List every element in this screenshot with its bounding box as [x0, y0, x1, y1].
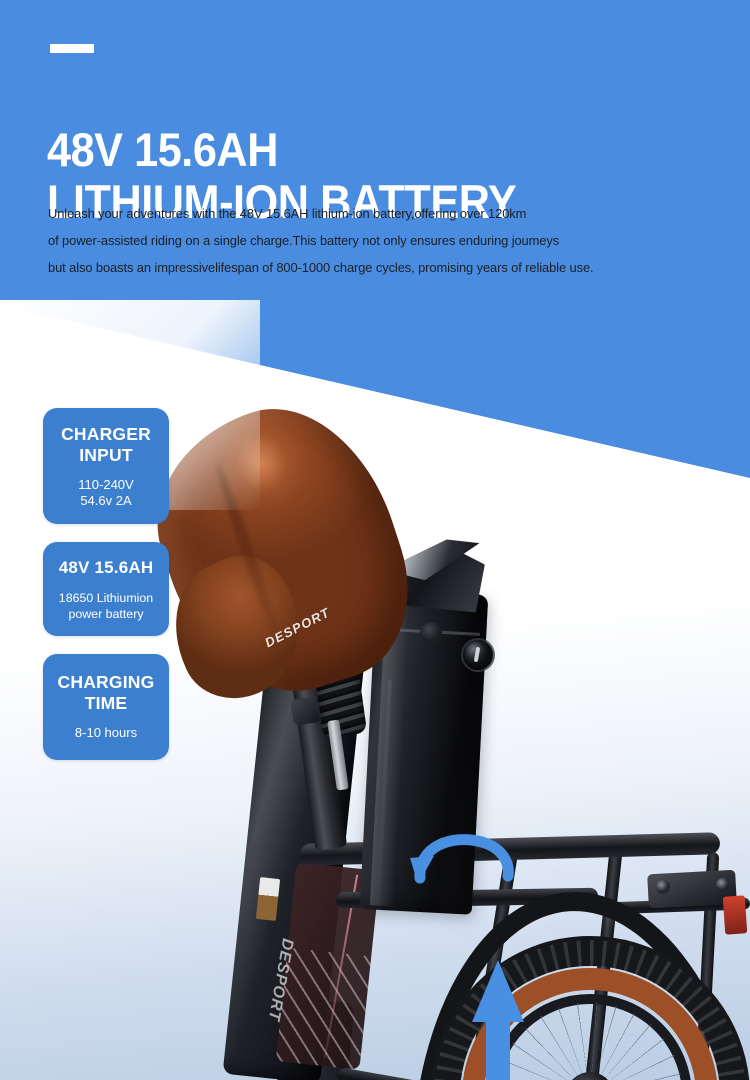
- page-title-line-1: 48V 15.6AH: [47, 123, 278, 176]
- spec-badge-capacity: 48V 15.6AH 18650 Lithiumion power batter…: [43, 542, 169, 636]
- battery-indicator-button: [420, 622, 442, 644]
- spec-badge-value: 18650 Lithiumion power battery: [47, 590, 165, 622]
- spec-badge-title: CHARGER INPUT: [49, 424, 163, 466]
- spec-badge-title: 48V 15.6AH: [47, 557, 165, 578]
- description-line-1: Unleash your adventures with the 48V 15.…: [48, 200, 669, 227]
- spec-badge-charger-input: CHARGER INPUT 110-240V 54.6v 2A: [43, 408, 169, 524]
- accent-dash: [50, 44, 94, 53]
- battery-key-lock: [463, 640, 493, 670]
- spec-badge-charging-time: CHARGING TIME 8-10 hours: [43, 654, 169, 760]
- spec-badge-title: CHARGING TIME: [49, 672, 163, 714]
- rack-bolt-right: [716, 878, 730, 892]
- rack-bolt-left: [656, 880, 670, 894]
- spec-badge-list: CHARGER INPUT 110-240V 54.6v 2A 48V 15.6…: [43, 408, 169, 760]
- seatpost-quick-release: [290, 696, 320, 726]
- description-paragraph: Unleash your adventures with the 48V 15.…: [48, 200, 669, 281]
- description-line-3: but also boasts an impressivelifespan of…: [48, 254, 669, 281]
- infographic-page: DESPORT: [0, 0, 750, 1080]
- rear-reflector: [723, 895, 748, 934]
- battery-release-arrow-icon: [408, 832, 516, 898]
- description-line-2: of power-assisted riding on a single cha…: [48, 227, 669, 254]
- spec-badge-value: 110-240V 54.6v 2A: [49, 477, 163, 509]
- spec-badge-value: 8-10 hours: [49, 725, 163, 741]
- battery-insert-arrow-icon: [472, 960, 524, 1080]
